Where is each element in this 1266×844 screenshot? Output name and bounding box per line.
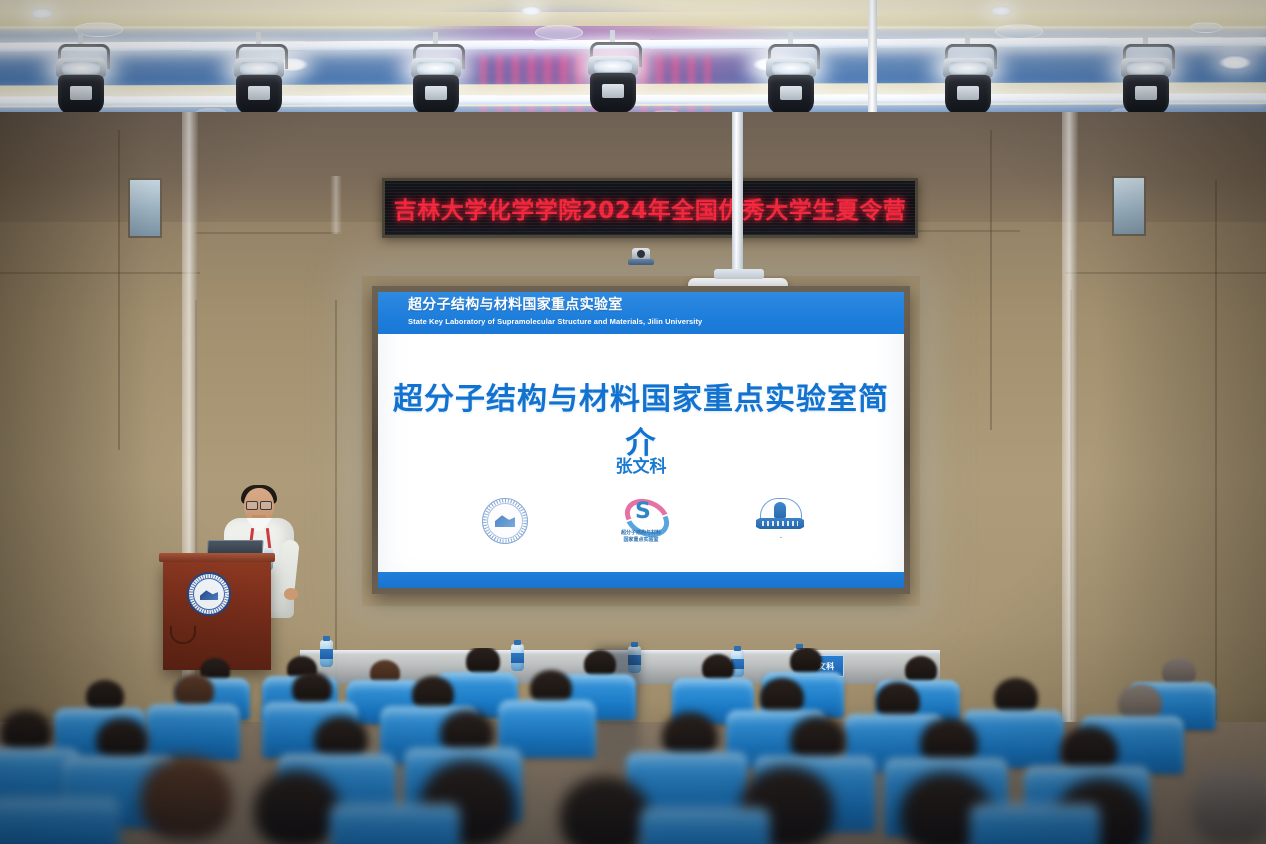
wall-shadow-right: [1096, 112, 1266, 722]
audience-head: [790, 648, 822, 675]
wall-camera-icon: [628, 248, 654, 266]
jilin-university-seal-icon: [474, 496, 532, 554]
stage-spotlight: [582, 40, 644, 118]
wall-panel-seam: [900, 230, 1020, 232]
led-banner-text: 吉林大学化学学院2024年全国优秀大学生夏令营: [394, 191, 907, 225]
audience-seating: [0, 648, 1266, 844]
downlight: [30, 8, 54, 19]
stage-spotlight: [937, 42, 999, 120]
stage-spotlight: [228, 42, 290, 120]
ceiling-vent: [1190, 22, 1222, 33]
slide-header-title-cn: 超分子结构与材料国家重点实验室: [408, 297, 904, 314]
slide-presenter-name: 张文科: [378, 452, 904, 477]
wall-shadow-left: [0, 112, 150, 722]
ceiling-band-upper: [0, 12, 1266, 26]
supramolecular-lab-logo-caption: 超分子结构与材料国家重点实验室: [606, 530, 676, 544]
seat: [146, 704, 240, 760]
audience-head: [140, 756, 232, 840]
podium-university-emblem-icon: [187, 572, 231, 616]
ceiling-pole: [868, 0, 877, 128]
slide-header: 超分子结构与材料国家重点实验室 State Key Laboratory of …: [378, 292, 904, 334]
seat: [640, 808, 770, 844]
wall-panel-seam: [195, 232, 340, 234]
lecture-hall-photo: 吉林大学化学学院2024年全国优秀大学生夏令营 EPSON 超分子结构与材料国家…: [0, 0, 1266, 844]
ceiling: [0, 0, 1266, 128]
downlight: [990, 6, 1012, 16]
projector-mount: [714, 269, 764, 279]
stage-spotlight: [760, 42, 822, 120]
seat: [970, 804, 1100, 844]
glasses-icon: [246, 501, 272, 508]
audience-head: [292, 672, 332, 706]
presentation-slide: 超分子结构与材料国家重点实验室 State Key Laboratory of …: [378, 292, 904, 588]
slide-title: 超分子结构与材料国家重点实验室简介: [378, 374, 904, 462]
led-banner: 吉林大学化学学院2024年全国优秀大学生夏令营: [382, 178, 918, 238]
seat: [0, 798, 120, 844]
audience-head: [254, 770, 340, 844]
chemistry-college-badge-icon: [750, 496, 808, 554]
downlight: [520, 6, 542, 16]
projection-screen: 超分子结构与材料国家重点实验室 State Key Laboratory of …: [372, 286, 910, 594]
ceiling-vent: [535, 25, 583, 40]
projector-pole: [732, 112, 743, 270]
podium-top: [159, 553, 275, 562]
supramolecular-lab-logo-icon: S 超分子结构与材料国家重点实验室: [612, 496, 670, 554]
downlight: [1218, 55, 1252, 70]
stage-spotlight: [405, 42, 467, 120]
stage-spotlight: [1115, 42, 1177, 120]
wall-panel-seam: [990, 130, 992, 430]
audience-head: [1190, 766, 1266, 844]
seat: [330, 804, 460, 844]
slide-header-title-en: State Key Laboratory of Supramolecular S…: [408, 316, 904, 327]
audience-head: [174, 674, 214, 708]
led-banner-glare: [330, 176, 342, 234]
slide-footer: [378, 572, 904, 588]
wall-column-right: [1062, 112, 1078, 722]
slide-logo-row: S 超分子结构与材料国家重点实验室: [378, 496, 904, 558]
speaker-hand: [284, 588, 298, 600]
stage-spotlight: [50, 42, 112, 120]
ceiling-vent: [995, 24, 1043, 39]
